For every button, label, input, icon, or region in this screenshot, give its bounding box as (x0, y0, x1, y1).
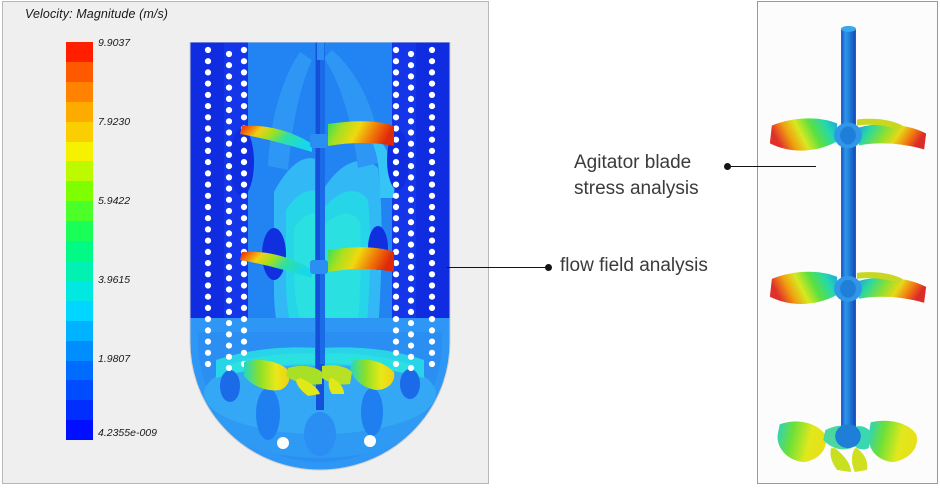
callout-agitator-blade-stress: Agitator blade stress analysis (574, 150, 699, 202)
coil-tube-dot (429, 137, 435, 143)
colorbar-band-18 (66, 400, 93, 420)
coil-tube-dot (393, 316, 399, 322)
colorbar-band-2 (66, 82, 93, 102)
coil-tube-dot (205, 249, 211, 255)
coil-tube-dot (429, 103, 435, 109)
coil-tube-dot (226, 253, 232, 259)
coil-tube-dot (226, 242, 232, 248)
flow-field-cfd-panel: Velocity: Magnitude (m/s) 9.9037 7.9230 … (2, 1, 489, 484)
coil-tube-dot (408, 365, 414, 371)
coil-tube-dot (205, 350, 211, 356)
coil-tube-dot (429, 282, 435, 288)
coil-tube-dot (241, 114, 247, 120)
coil-tube-dot (429, 69, 435, 75)
coil-tube-dot (429, 125, 435, 131)
callout-blade-line1: Agitator blade (574, 150, 699, 176)
coil-tube-dot (241, 92, 247, 98)
coil-tube-dot (226, 141, 232, 147)
coil-tube-dot (429, 182, 435, 188)
coil-tube-dot (429, 260, 435, 266)
coil-tube-dot (408, 208, 414, 214)
coil-tube-dot (205, 215, 211, 221)
coil-tube-dot (205, 226, 211, 232)
coil-tube-dot (393, 193, 399, 199)
coil-tube-dot (408, 96, 414, 102)
colorbar-tick-4: 1.9807 (98, 353, 130, 365)
coil-tube-dot (226, 343, 232, 349)
coil-tube-dot (393, 204, 399, 210)
coil-tube-dot (408, 343, 414, 349)
coil-tube-dot (241, 81, 247, 87)
coil-tube-dot (408, 85, 414, 91)
coil-tube-dot (429, 271, 435, 277)
coil-tube-dot (226, 129, 232, 135)
coil-tube-dot (429, 238, 435, 244)
coil-tube-dot (226, 118, 232, 124)
coil-tube-dot (205, 81, 211, 87)
colorbar-band-12 (66, 281, 93, 301)
coil-tube-dot (393, 305, 399, 311)
coil-tube-dot (393, 148, 399, 154)
callout-blade-leader-line (730, 166, 816, 167)
velocity-colorbar (66, 42, 93, 440)
colorbar-tick-3: 3.9615 (98, 274, 130, 286)
coil-tube-dot (429, 114, 435, 120)
coil-tube-dot (241, 215, 247, 221)
coil-tube-dot (393, 81, 399, 87)
coil-tube-dot (408, 264, 414, 270)
coil-tube-dot (393, 327, 399, 333)
coil-tube-dot (241, 170, 247, 176)
callout-flow-leader-line (447, 267, 547, 268)
coil-tube-dot (205, 47, 211, 53)
coil-tube-dot (429, 170, 435, 176)
coil-tube-dot (429, 159, 435, 165)
legend-title: Velocity: Magnitude (m/s) (25, 7, 168, 21)
coil-tube-dot (226, 230, 232, 236)
colorbar-tick-0: 9.9037 (98, 37, 130, 49)
coil-tube-dot (241, 282, 247, 288)
coil-tube-dot (226, 62, 232, 68)
colorbar-band-17 (66, 380, 93, 400)
coil-tube-dot (408, 152, 414, 158)
colorbar-band-10 (66, 241, 93, 261)
colorbar-band-5 (66, 142, 93, 162)
colorbar-band-4 (66, 122, 93, 142)
coil-tube-dot (429, 92, 435, 98)
coil-tube-dot (226, 96, 232, 102)
coil-tube-dot (393, 92, 399, 98)
coil-tube-dot (408, 163, 414, 169)
upper-impeller-fea (770, 118, 926, 150)
coil-tube-dot (226, 186, 232, 192)
colorbar-band-3 (66, 102, 93, 122)
coil-tube-dot (429, 350, 435, 356)
coil-tube-dot (205, 159, 211, 165)
coil-tube-dot (429, 305, 435, 311)
coil-tube-dot (408, 51, 414, 57)
coil-tube-dot (241, 226, 247, 232)
colorbar-band-19 (66, 420, 93, 440)
colorbar-band-11 (66, 261, 93, 281)
coil-tube-dot (393, 69, 399, 75)
coil-tube-dot (205, 204, 211, 210)
coil-tube-dot (408, 118, 414, 124)
coil-tube-dot (393, 294, 399, 300)
coil-tube-dot (226, 331, 232, 337)
coil-tube-dot (393, 182, 399, 188)
coil-tube-dot (408, 230, 414, 236)
coil-tube-dot (393, 238, 399, 244)
coil-tube-dot (393, 103, 399, 109)
tank-cfd-contour (182, 42, 458, 472)
coil-tube-dot (241, 305, 247, 311)
coil-tube-dot (241, 271, 247, 277)
coil-tube-dot (205, 137, 211, 143)
coil-tube-dot (408, 141, 414, 147)
coil-tube-dot (408, 354, 414, 360)
coil-tube-dot (393, 58, 399, 64)
coil-tube-dot (393, 361, 399, 367)
coil-tube-dot (429, 294, 435, 300)
callout-flow-field: flow field analysis (560, 253, 708, 279)
coil-tube-dot (226, 152, 232, 158)
colorbar-gradient-bands (66, 42, 93, 440)
coil-tube-dot (226, 174, 232, 180)
coil-tube-dot (205, 92, 211, 98)
coil-tube-dot (241, 148, 247, 154)
coil-tube-dot (241, 58, 247, 64)
coil-tube-dot (241, 327, 247, 333)
coil-tube-dot (393, 159, 399, 165)
coil-tube-dot (429, 58, 435, 64)
coil-tube-dot (408, 309, 414, 315)
coil-tube-dot (205, 238, 211, 244)
coil-tube-dot (241, 204, 247, 210)
coil-tube-dot (408, 73, 414, 79)
coil-tube-dot (429, 193, 435, 199)
coil-tube-dot (393, 271, 399, 277)
coil-tube-dot (205, 170, 211, 176)
coil-tube-dot (429, 327, 435, 333)
coil-tube-dot (429, 148, 435, 154)
coil-tube-dot (408, 331, 414, 337)
mid-impeller-fea (770, 272, 926, 304)
coil-tube-dot (429, 249, 435, 255)
coil-tube-dot (241, 316, 247, 322)
coil-tube-dot (205, 125, 211, 131)
colorbar-band-0 (66, 42, 93, 62)
coil-tube-dot (226, 365, 232, 371)
coil-tube-dot (226, 208, 232, 214)
colorbar-tick-5: 4.2355e-009 (98, 427, 157, 439)
coil-tube-dot (205, 282, 211, 288)
coil-tube-dot (241, 238, 247, 244)
coil-tube-dot (241, 103, 247, 109)
coil-tube-dot (241, 294, 247, 300)
coil-tube-dot (408, 107, 414, 113)
coil-tube-dot (241, 193, 247, 199)
coil-tube-dot (226, 320, 232, 326)
coil-tube-dot (408, 129, 414, 135)
coil-tube-dot (205, 182, 211, 188)
coil-tube-dot (408, 286, 414, 292)
coil-tube-dot (226, 275, 232, 281)
coil-tube-dot (205, 305, 211, 311)
coil-tube-dot (408, 197, 414, 203)
coil-tube-dot (226, 219, 232, 225)
coil-tube-dot (226, 309, 232, 315)
coil-tube-dot (205, 260, 211, 266)
coil-tube-dot (408, 186, 414, 192)
coil-tube-dot (393, 114, 399, 120)
coil-tube-dot (393, 339, 399, 345)
coil-tube-dot (205, 58, 211, 64)
colorbar-band-1 (66, 62, 93, 82)
agitator-stress-fea-panel (757, 1, 938, 484)
coil-tube-dot (408, 298, 414, 304)
coil-tube-dot (241, 69, 247, 75)
colorbar-band-16 (66, 361, 93, 381)
colorbar-band-15 (66, 341, 93, 361)
coil-tube-dot (205, 193, 211, 199)
coil-tube-dot (226, 107, 232, 113)
coil-tube-dot (205, 271, 211, 277)
coil-tube-dot (429, 226, 435, 232)
coil-tube-dot (408, 219, 414, 225)
coil-tube-dot (226, 298, 232, 304)
coil-tube-dot (241, 137, 247, 143)
coil-tube-dot (205, 103, 211, 109)
coil-tube-dot (393, 226, 399, 232)
coil-tube-dot (429, 339, 435, 345)
coil-tube-dot (205, 327, 211, 333)
coil-tube-dot (226, 264, 232, 270)
coil-tube-dot (241, 339, 247, 345)
colorbar-band-8 (66, 201, 93, 221)
coil-tube-dot (241, 159, 247, 165)
coil-tube-dot (226, 73, 232, 79)
coil-tube-dot (226, 85, 232, 91)
coil-tube-dot (429, 316, 435, 322)
coil-tube-dot (205, 114, 211, 120)
coil-tube-dot (241, 47, 247, 53)
bottom-impeller-fea (778, 421, 917, 472)
colorbar-band-6 (66, 161, 93, 181)
coil-tube-dot (393, 282, 399, 288)
coil-tube-dot (429, 47, 435, 53)
coil-tube-dot (241, 182, 247, 188)
coil-tube-dot (429, 204, 435, 210)
coil-tube-dot (393, 350, 399, 356)
colorbar-band-9 (66, 221, 93, 241)
coil-tube-dot (393, 170, 399, 176)
coil-tube-dot (408, 242, 414, 248)
coil-tube-dot (205, 294, 211, 300)
coil-tube-dot (226, 163, 232, 169)
coil-tube-dot (393, 215, 399, 221)
coil-tube-dot (226, 286, 232, 292)
coil-tube-dot (408, 320, 414, 326)
coil-tube-dot (226, 51, 232, 57)
coil-tube-dot (226, 197, 232, 203)
coil-tube-dot (226, 354, 232, 360)
coil-tube-dot (429, 215, 435, 221)
coil-tube-dot (205, 316, 211, 322)
coil-tube-dot (205, 339, 211, 345)
coil-tube-dot (393, 47, 399, 53)
colorbar-band-7 (66, 181, 93, 201)
agitator-assembly-stress-contour (758, 2, 937, 483)
colorbar-band-13 (66, 301, 93, 321)
coil-tube-dot (241, 350, 247, 356)
colorbar-tick-1: 7.9230 (98, 116, 130, 128)
colorbar-band-14 (66, 321, 93, 341)
coil-tube-dot (429, 81, 435, 87)
coil-tube-dot (408, 275, 414, 281)
coil-tube-dot (205, 148, 211, 154)
coil-tube-dot (205, 361, 211, 367)
colorbar-tick-2: 5.9422 (98, 195, 130, 207)
coil-tube-dot (205, 69, 211, 75)
coil-tube-dot (408, 174, 414, 180)
coil-tube-dot (429, 361, 435, 367)
coil-tube-dot (408, 62, 414, 68)
callout-flow-line1: flow field analysis (560, 253, 708, 279)
coil-tube-dot (408, 253, 414, 259)
callout-blade-line2: stress analysis (574, 176, 699, 202)
